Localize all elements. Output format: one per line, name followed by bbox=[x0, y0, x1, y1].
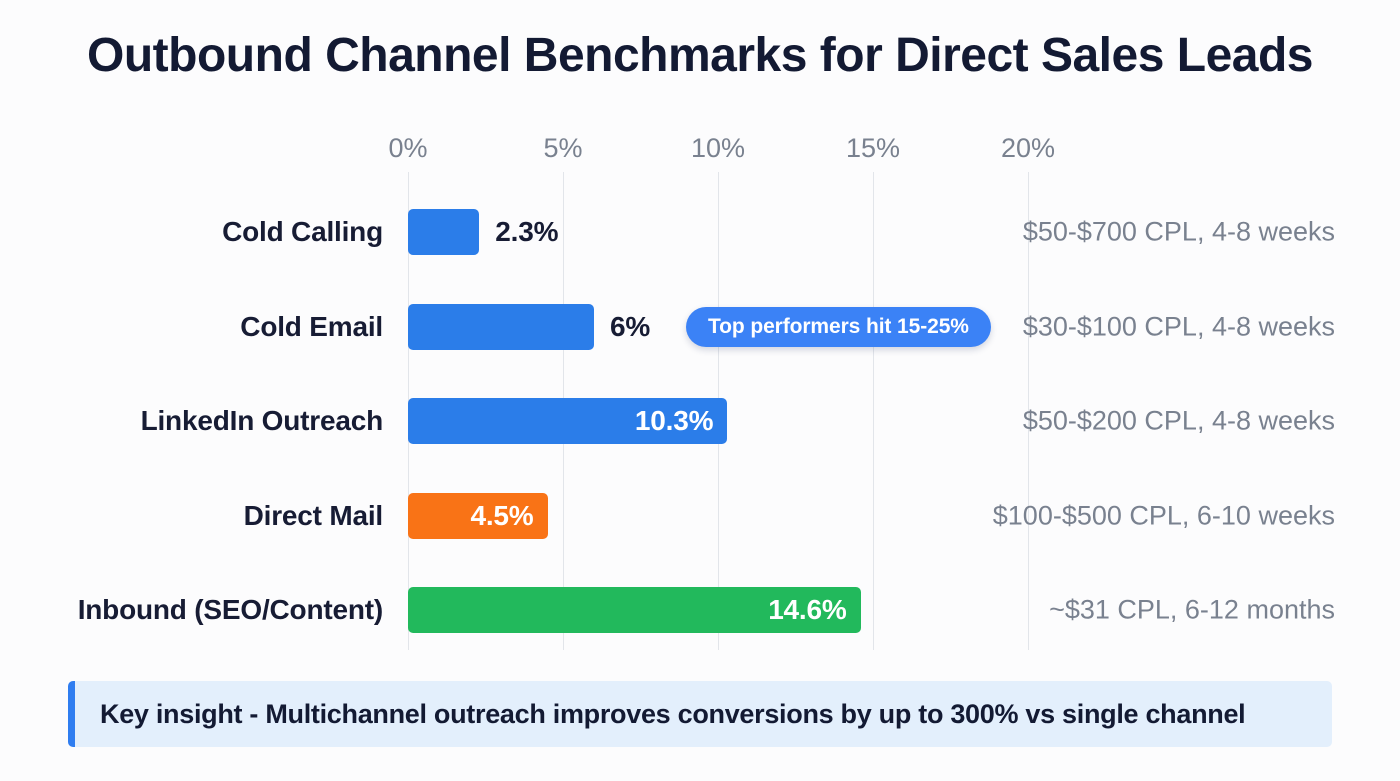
x-axis-tick-label: 20% bbox=[1001, 133, 1055, 164]
bar[interactable] bbox=[408, 304, 594, 350]
row-annotation: $100-$500 CPL, 6-10 weeks bbox=[993, 501, 1335, 532]
key-insight-banner: Key insight - Multichannel outreach impr… bbox=[68, 681, 1332, 747]
row-annotation: ~$31 CPL, 6-12 months bbox=[1049, 595, 1335, 626]
bar[interactable]: 10.3% bbox=[408, 398, 727, 444]
callout-pill-label: Top performers hit 15-25% bbox=[708, 315, 969, 339]
bar[interactable]: 4.5% bbox=[408, 493, 548, 539]
bar-value-label: 14.6% bbox=[768, 594, 846, 626]
bar-value-label: 2.3% bbox=[495, 216, 558, 248]
category-label: LinkedIn Outreach bbox=[0, 405, 383, 437]
category-label: Inbound (SEO/Content) bbox=[0, 594, 383, 626]
row-annotation: $50-$200 CPL, 4-8 weeks bbox=[1023, 406, 1335, 437]
category-label: Cold Email bbox=[0, 311, 383, 343]
row-annotation: $30-$100 CPL, 4-8 weeks bbox=[1023, 312, 1335, 343]
x-axis-tick-label: 5% bbox=[543, 133, 582, 164]
chart-row: Direct Mail4.5%$100-$500 CPL, 6-10 weeks bbox=[0, 493, 1400, 539]
row-annotation: $50-$700 CPL, 4-8 weeks bbox=[1023, 217, 1335, 248]
chart-row: Cold Calling2.3%$50-$700 CPL, 4-8 weeks bbox=[0, 209, 1400, 255]
bar-value-label: 4.5% bbox=[470, 500, 533, 532]
x-axis-tick-label: 0% bbox=[388, 133, 427, 164]
category-label: Direct Mail bbox=[0, 500, 383, 532]
chart-row: LinkedIn Outreach10.3%$50-$200 CPL, 4-8 … bbox=[0, 398, 1400, 444]
chart-row: Inbound (SEO/Content)14.6%~$31 CPL, 6-12… bbox=[0, 587, 1400, 633]
bar-chart-plot-area: 0%5%10%15%20%Cold Calling2.3%$50-$700 CP… bbox=[0, 0, 1400, 781]
bar-value-label: 10.3% bbox=[635, 405, 713, 437]
category-label: Cold Calling bbox=[0, 216, 383, 248]
key-insight-text: Key insight - Multichannel outreach impr… bbox=[75, 699, 1245, 730]
bar[interactable]: 14.6% bbox=[408, 587, 861, 633]
callout-pill: Top performers hit 15-25% bbox=[686, 307, 991, 347]
bar[interactable] bbox=[408, 209, 479, 255]
bar-value-label: 6% bbox=[610, 311, 650, 343]
x-axis-tick-label: 10% bbox=[691, 133, 745, 164]
x-axis-tick-label: 15% bbox=[846, 133, 900, 164]
